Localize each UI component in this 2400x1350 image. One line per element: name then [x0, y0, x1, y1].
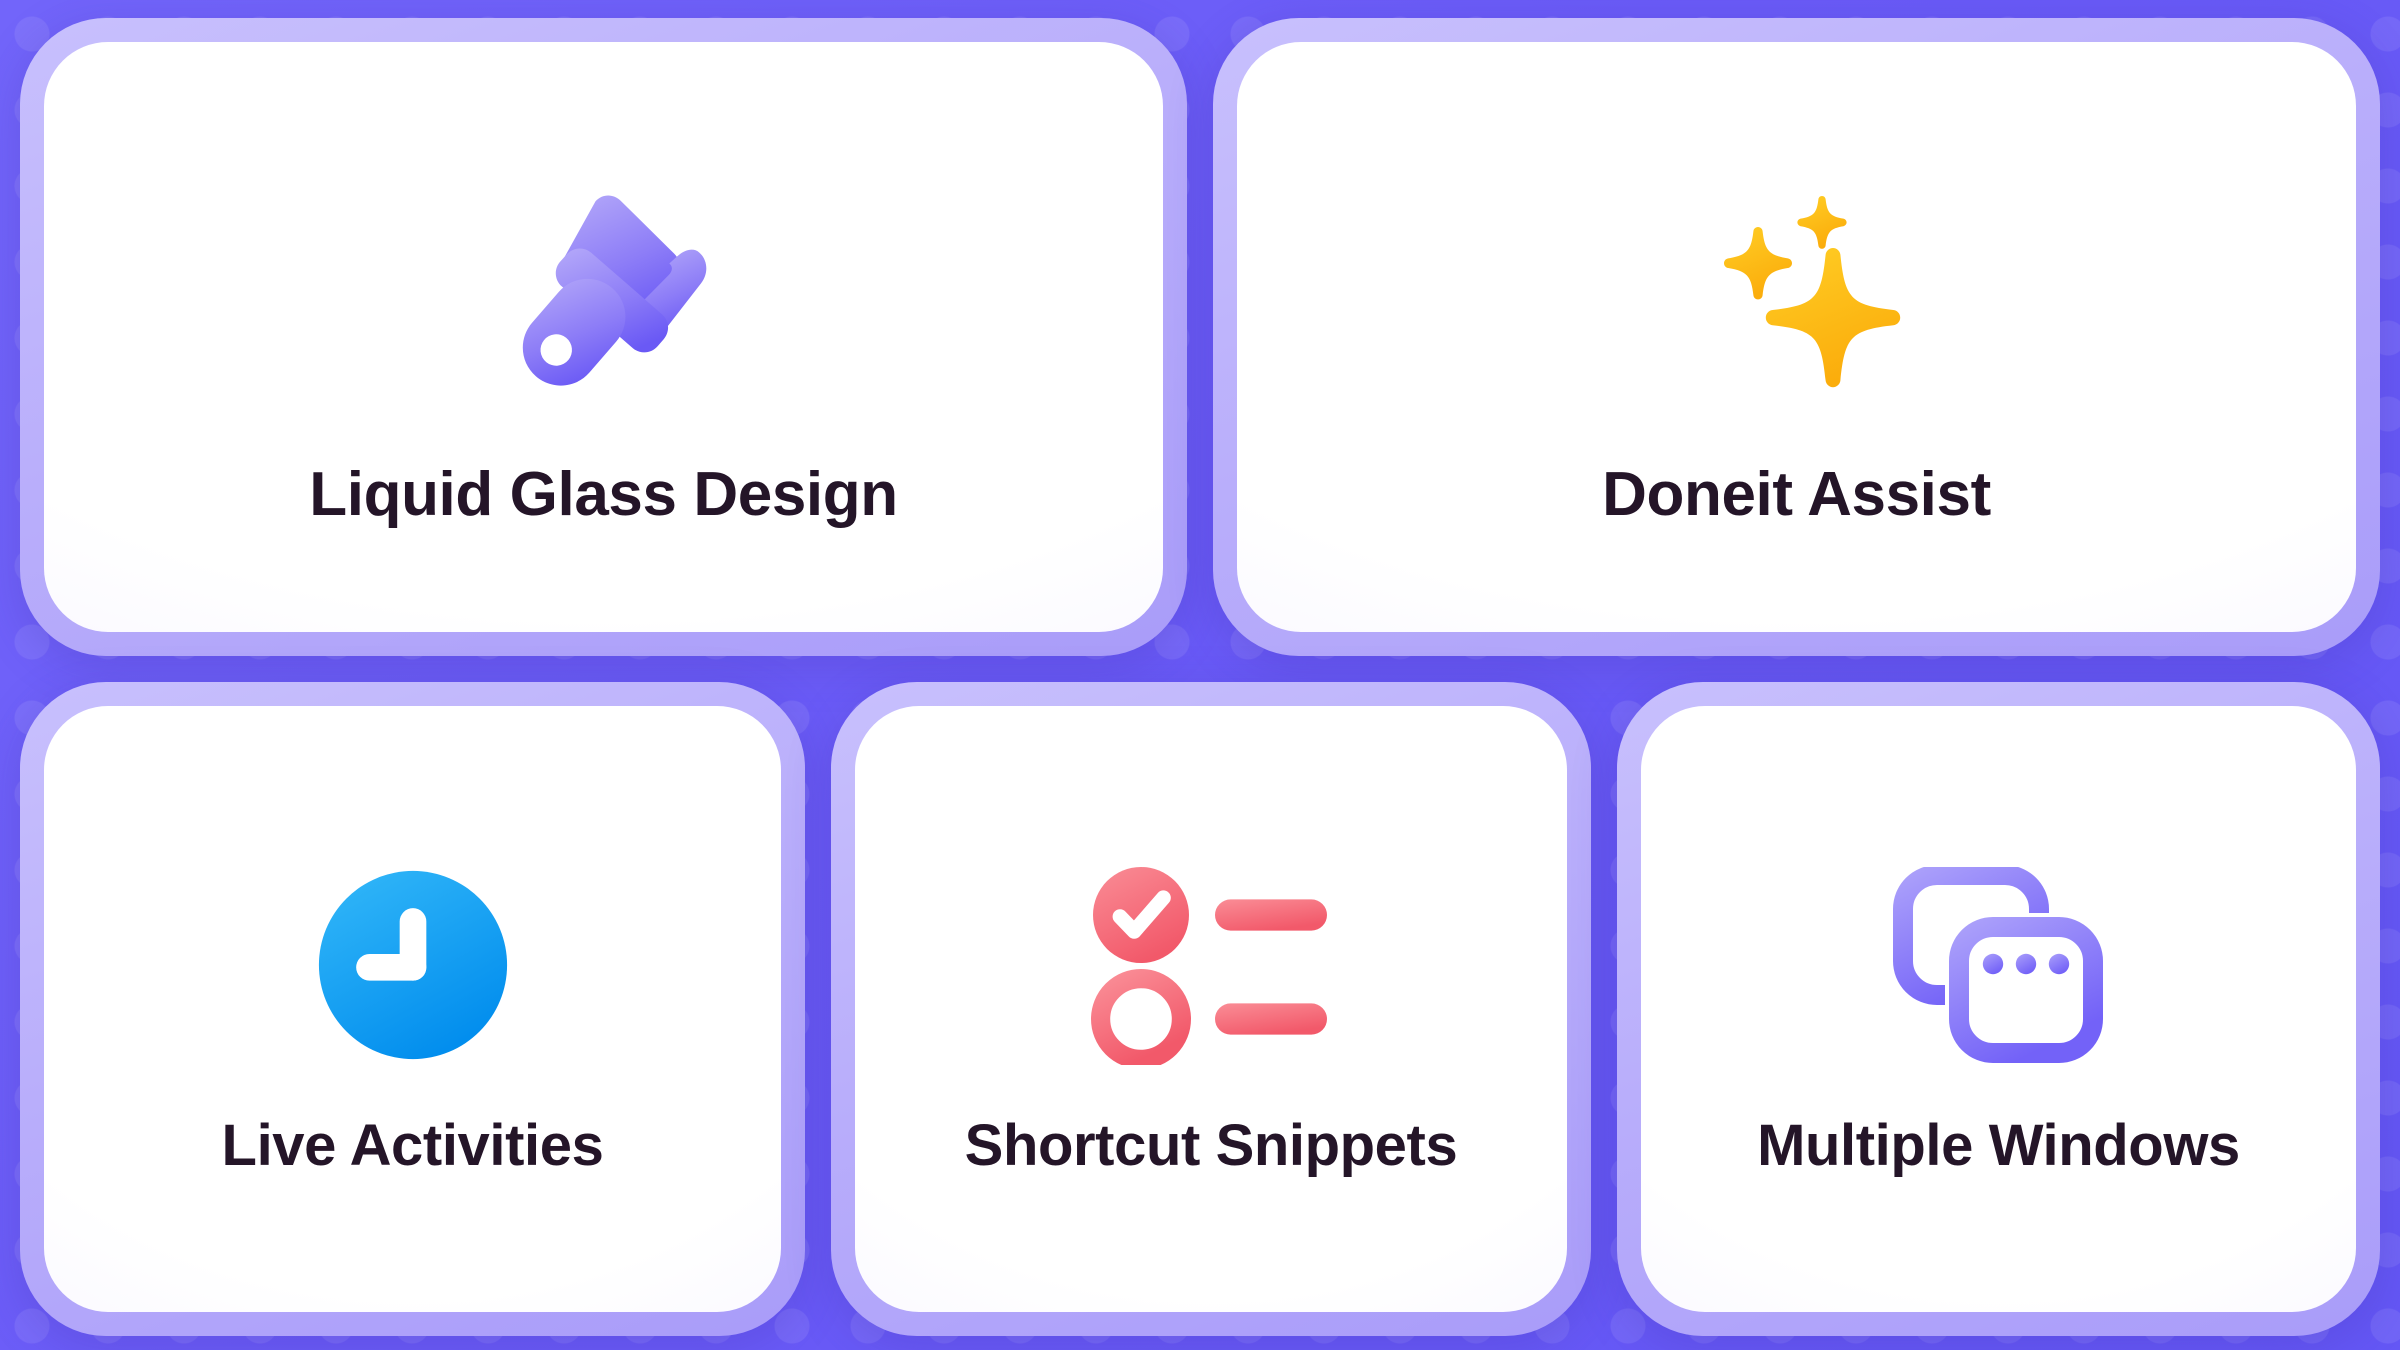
feature-card-shortcut-snippets[interactable]: Shortcut Snippets: [831, 682, 1591, 1336]
feature-card-multiple-windows[interactable]: Multiple Windows: [1617, 682, 2380, 1336]
card-surface: Live Activities: [44, 706, 781, 1312]
multiple-windows-icon: [1893, 865, 2105, 1065]
card-label: Shortcut Snippets: [965, 1117, 1458, 1175]
paintbrush-icon: [489, 176, 719, 406]
card-label: Doneit Assist: [1602, 464, 1991, 526]
card-label: Live Activities: [222, 1117, 604, 1175]
sparkles-icon: [1677, 176, 1917, 406]
card-surface: Liquid Glass Design: [44, 42, 1163, 632]
card-surface: Multiple Windows: [1641, 706, 2356, 1312]
card-surface: Doneit Assist: [1237, 42, 2356, 632]
feature-card-doneit-assist[interactable]: Doneit Assist: [1213, 18, 2380, 656]
card-surface: Shortcut Snippets: [855, 706, 1567, 1312]
checklist-icon: [1087, 865, 1335, 1065]
feature-card-liquid-glass-design[interactable]: Liquid Glass Design: [20, 18, 1187, 656]
card-row-top: Liquid Glass Design: [20, 18, 2380, 656]
card-label: Multiple Windows: [1757, 1117, 2240, 1175]
card-row-bottom: Live Activities: [20, 682, 2380, 1336]
card-label: Liquid Glass Design: [309, 464, 897, 526]
clock-icon: [315, 865, 511, 1065]
feature-card-grid: Liquid Glass Design: [0, 0, 2400, 1350]
feature-card-live-activities[interactable]: Live Activities: [20, 682, 805, 1336]
